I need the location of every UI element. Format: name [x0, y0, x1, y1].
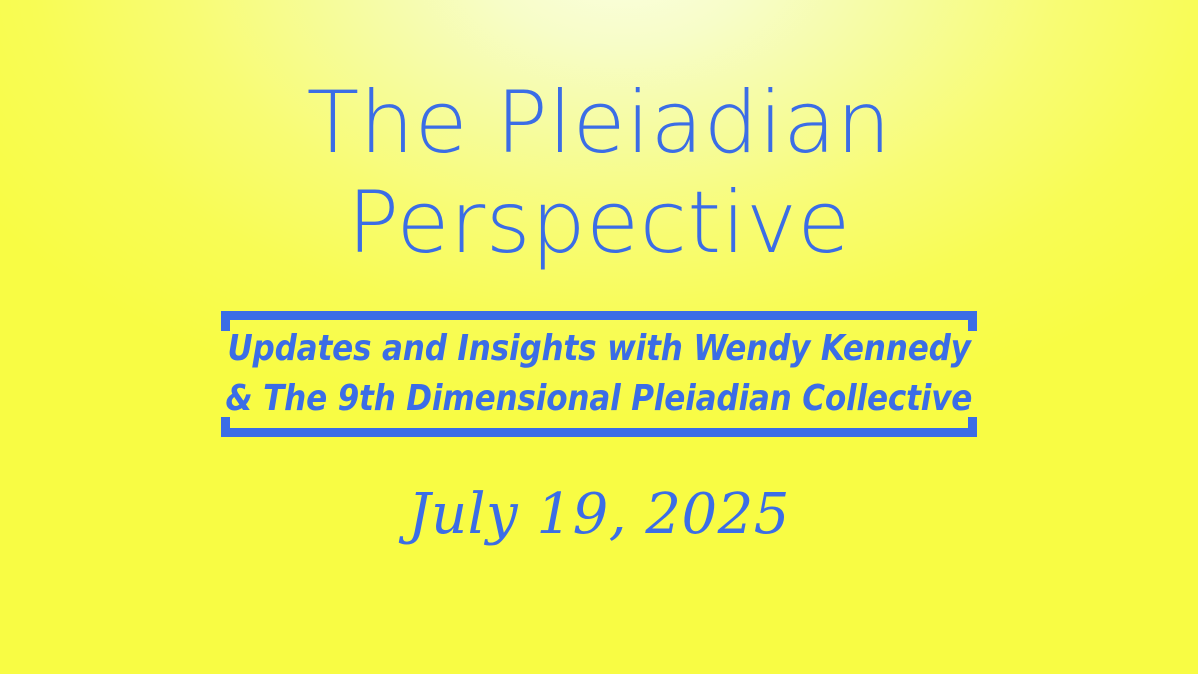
subtitle: Updates and Insights with Wendy Kennedy … [221, 320, 977, 428]
title-line-2: Perspective [0, 174, 1198, 274]
title-slide: The Pleiadian Perspective Updates and In… [0, 0, 1198, 674]
title-line-1: The Pleiadian [0, 74, 1198, 174]
subtitle-line-1: Updates and Insights with Wendy Kennedy [227, 324, 970, 374]
frame-bar-top [221, 311, 977, 320]
presentation-date: July 19, 2025 [0, 484, 1198, 546]
subtitle-line-2: & The 9th Dimensional Pleiadian Collecti… [226, 374, 973, 424]
frame-cap-bottom-left [221, 417, 230, 428]
subtitle-frame: Updates and Insights with Wendy Kennedy … [221, 311, 977, 437]
frame-cap-bottom-right [968, 417, 977, 428]
frame-bar-bottom [221, 428, 977, 437]
page-title: The Pleiadian Perspective [0, 74, 1198, 274]
